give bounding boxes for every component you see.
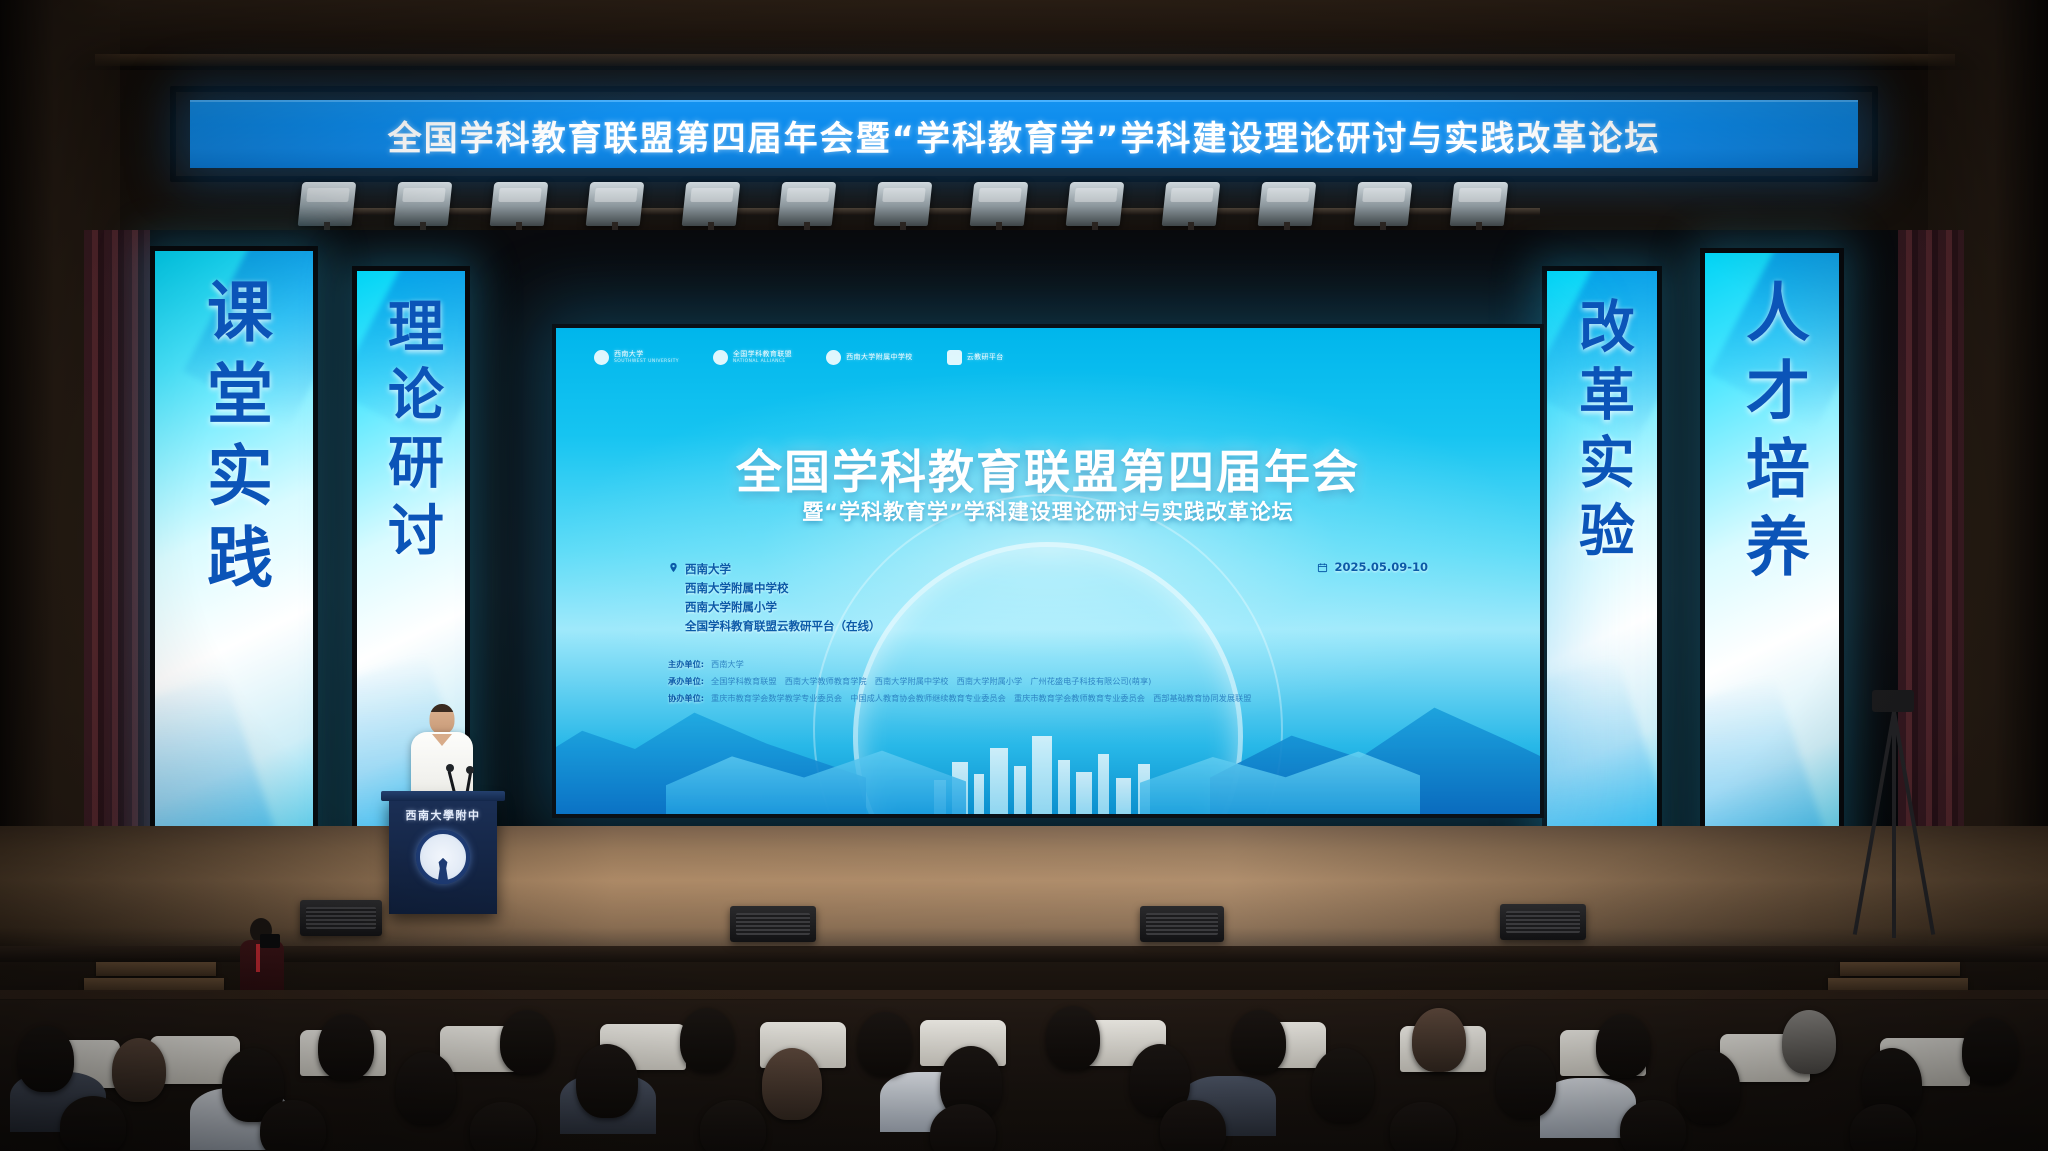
organizer-label: 协办单位: [668,690,704,707]
stage-lamp-icon [1066,182,1125,226]
location-pin-icon [668,562,679,573]
lectern-label: 西南大學附中 [389,807,497,823]
tripod-leg [1892,712,1935,935]
attendee-head [318,1014,374,1080]
organizer-row: 主办单位: 西南大学 [668,656,1438,673]
logo-sublabel: NATIONAL ALLIANCE [733,359,792,365]
stage-lamp-icon [298,182,357,226]
attendee-head [1596,1014,1650,1078]
ceiling-light-strip [95,54,1955,66]
logo-sublabel: SOUTHWEST UNIVERSITY [614,359,679,365]
organizer-value: 重庆市教育学会数学教学专业委员会 中国成人教育协会教师继续教育专业委员会 重庆市… [711,690,1251,707]
stage-lamp-icon [1450,182,1509,226]
attendee-head [112,1038,166,1102]
attendee-head [260,1100,326,1151]
logo-swu: 西南大学 SOUTHWEST UNIVERSITY [594,350,679,365]
screen-title: 全国学科教育联盟第四届年会 [556,436,1540,502]
stage-lamp-icon [682,182,741,226]
lanyard [256,944,260,972]
side-led-panel-1: 课堂实践 [150,246,318,876]
attendee-head [858,1012,912,1076]
attendee-head [1782,1010,1836,1074]
logo-label: 云教研平台 [967,353,1004,361]
organizer-value: 西南大学 [711,656,744,673]
attendee-head [680,1008,734,1072]
attendee-head [1312,1048,1374,1122]
stage-stair-step [96,962,216,976]
venue-item: 西南大学 [685,560,881,579]
attendee-head [1412,1008,1466,1072]
attendee-head [576,1044,638,1118]
microphone-head-right [466,766,474,774]
attendee-head [762,1048,822,1120]
attendee-head [470,1102,536,1151]
attendee-head [1496,1046,1556,1118]
venue-item: 全国学科教育联盟云教研平台（在线） [685,617,881,636]
logo-alliance: 全国学科教育联盟 NATIONAL ALLIANCE [713,350,792,365]
school-crest-icon [416,830,470,884]
organizers-block: 主办单位: 西南大学 承办单位: 全国学科教育联盟 西南大学教师教育学院 西南大… [668,656,1438,706]
date-block: 2025.05.09-10 [1317,560,1438,574]
stage-lamp-icon [1162,182,1221,226]
screen-info-block: 西南大学 西南大学附属中学校 西南大学附属小学 全国学科教育联盟云教研平台（在线… [668,560,1438,706]
logo-affiliated-middle-school: 西南大学附属中学校 [826,350,913,365]
attendee-head [1962,1018,2018,1084]
organizer-label: 主办单位: [668,656,704,673]
attendee-head [1678,1050,1740,1124]
partner-logo-row: 西南大学 SOUTHWEST UNIVERSITY 全国学科教育联盟 NATIO… [594,350,1004,365]
side-led-panel-3: 改革实验 [1542,266,1662,858]
attendee-head [1232,1010,1286,1074]
screen-subtitle: 暨“学科教育学”学科建设理论研讨与实践改革论坛 [556,496,1540,526]
stage-lamp-icon [1354,182,1413,226]
alliance-logo-icon [713,350,728,365]
attendee-head [1160,1100,1226,1151]
organizer-value: 全国学科教育联盟 西南大学教师教育学院 西南大学附属中学校 西南大学附属小学 广… [711,673,1151,690]
attendee-head [1046,1006,1100,1070]
tripod-leg [1892,712,1896,938]
organizer-row: 协办单位: 重庆市教育学会数学教学专业委员会 中国成人教育协会教师继续教育专业委… [668,690,1438,707]
camera-icon [260,934,280,948]
lectern-top [381,791,505,801]
venue-item: 西南大学附属中学校 [685,579,881,598]
lectern: 西南大學附中 [389,798,497,914]
attendee-head [1390,1102,1456,1151]
attendee-head [1620,1100,1686,1151]
stage-curtain-left [84,230,150,850]
venue-block: 西南大学 西南大学附属中学校 西南大学附属小学 全国学科教育联盟云教研平台（在线… [668,560,881,636]
logo-label: 西南大学附属中学校 [846,353,913,361]
stage-lamp-icon [1258,182,1317,226]
stage-lamp-icon [394,182,453,226]
presenter-head [430,704,455,734]
side-panel-label: 理论研讨 [371,297,452,569]
event-date: 2025.05.09-10 [1334,560,1428,574]
microphone-head-left [446,764,454,772]
swu-logo-icon [594,350,609,365]
logo-label: 西南大学 [614,350,644,358]
stage-stair-step [1840,962,1960,976]
attendee-head [60,1096,126,1151]
side-panel-label: 人才培养 [1726,279,1818,591]
stage-lamp-icon [874,182,933,226]
organizer-label: 承办单位: [668,673,704,690]
stage-floor [0,826,2048,956]
school-logo-icon [826,350,841,365]
stage-lamp-icon [586,182,645,226]
partner-logo-icon [947,350,962,365]
logo-partner: 云教研平台 [947,350,1004,365]
side-panel-label: 课堂实践 [186,277,282,605]
camera-tripod [1862,690,1938,940]
auditorium-scene: 全国学科教育联盟第四届年会暨“学科教育学”学科建设理论研讨与实践改革论坛 [0,0,2048,1151]
stage-lamp-icon [970,182,1029,226]
floor-monitor [300,900,382,936]
audience-area [0,1000,2048,1151]
stage-lamp-icon [778,182,837,226]
calendar-icon [1317,562,1328,573]
attendee-head [500,1010,554,1074]
side-panel-label: 改革实验 [1562,297,1643,569]
venue-item: 西南大学附属小学 [685,598,881,617]
main-led-screen: 西南大学 SOUTHWEST UNIVERSITY 全国学科教育联盟 NATIO… [552,324,1544,818]
floor-monitor [1140,906,1224,942]
stage-lamp-icon [490,182,549,226]
side-led-panel-4: 人才培养 [1700,248,1844,878]
video-camera-icon [1872,690,1914,712]
attendee-head [700,1100,766,1151]
logo-label: 全国学科教育联盟 [733,350,792,358]
attendee-head [396,1052,456,1124]
floor-monitor [1500,904,1586,940]
screen-surface: 西南大学 SOUTHWEST UNIVERSITY 全国学科教育联盟 NATIO… [556,328,1540,814]
banner-text: 全国学科教育联盟第四届年会暨“学科教育学”学科建设理论研讨与实践改革论坛 [388,111,1661,160]
floor-monitor [730,906,816,942]
top-led-banner: 全国学科教育联盟第四届年会暨“学科教育学”学科建设理论研讨与实践改革论坛 [190,100,1858,168]
attendee-head [18,1026,74,1092]
organizer-row: 承办单位: 全国学科教育联盟 西南大学教师教育学院 西南大学附属中学校 西南大学… [668,673,1438,690]
